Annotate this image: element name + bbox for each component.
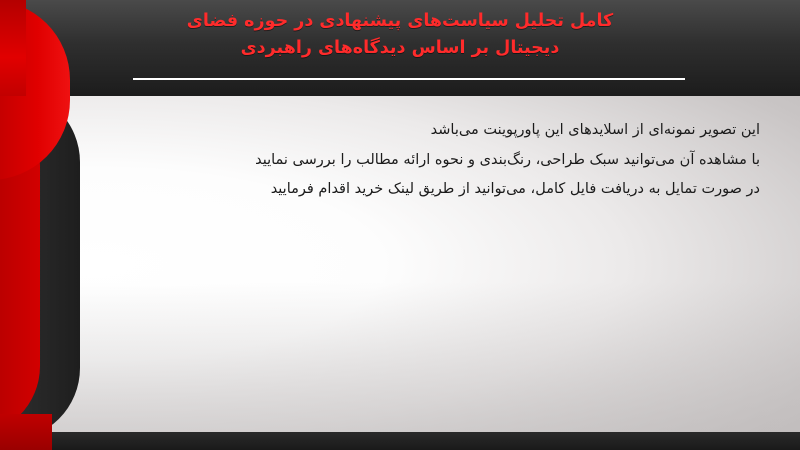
slide-title-line-1: کامل تحلیل سیاست‌های پیشنهادی در حوزه فض… bbox=[110, 8, 690, 35]
presentation-slide: کامل تحلیل سیاست‌های پیشنهادی در حوزه فض… bbox=[0, 0, 800, 450]
slide-footer-band bbox=[0, 432, 800, 450]
title-underline-rule bbox=[133, 78, 685, 80]
slide-body-line-1: این تصویر نمونه‌ای از اسلایدهای این پاور… bbox=[100, 116, 760, 146]
slide-body-line-2: با مشاهده آن می‌توانید سبک طراحی، رنگ‌بن… bbox=[100, 146, 760, 176]
slide-body-line-3: در صورت تمایل به دریافت فایل کامل، می‌تو… bbox=[100, 175, 760, 205]
slide-title: کامل تحلیل سیاست‌های پیشنهادی در حوزه فض… bbox=[0, 8, 800, 62]
slide-title-line-2: دیجیتال بر اساس دیدگاه‌های راهبردی bbox=[110, 35, 690, 62]
slide-body: این تصویر نمونه‌ای از اسلایدهای این پاور… bbox=[100, 116, 760, 205]
decorative-red-block-bottom bbox=[0, 414, 52, 450]
